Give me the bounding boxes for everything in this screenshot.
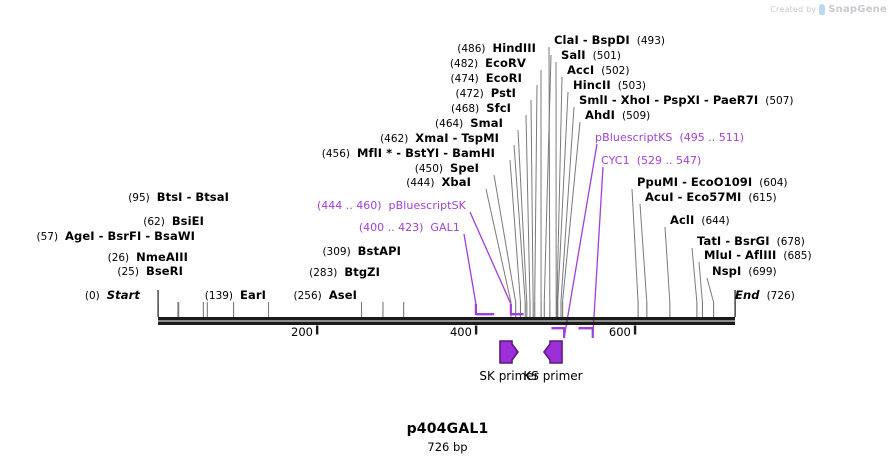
enzyme-label-clai[interactable]: ClaI - BspDI (493) xyxy=(554,35,665,47)
enzyme-name: PspXI xyxy=(663,93,700,107)
enzyme-position: (644) xyxy=(701,215,729,227)
name-separator: - xyxy=(732,248,745,262)
enzyme-name: XmaI xyxy=(415,131,448,145)
enzyme-label-asei[interactable]: (256) AseI xyxy=(0,290,357,302)
name-separator: - xyxy=(700,93,713,107)
enzyme-name-group: PpuMI - EcoO109I xyxy=(637,176,752,189)
enzyme-name: XhoI xyxy=(621,93,651,107)
enzyme-name: BstYI xyxy=(405,146,439,160)
enzyme-label-nspi[interactable]: NspI (699) xyxy=(712,266,777,278)
leader-sfci xyxy=(526,115,530,302)
site-tick-asei xyxy=(361,302,362,317)
enzyme-label-tati[interactable]: TatI - BsrGI (678) xyxy=(697,236,805,248)
enzyme-name: PaeR7I xyxy=(713,93,758,107)
name-separator: - xyxy=(449,131,462,145)
enzyme-position: (507) xyxy=(765,95,793,107)
enzyme-name: TspMI xyxy=(461,131,499,145)
plasmid-name: p404GAL1 xyxy=(0,421,895,437)
enzyme-position: (256) xyxy=(294,290,322,302)
feature-riser-pbluescriptsk xyxy=(510,304,512,315)
enzyme-label-btgzi[interactable]: (283) BtgZI xyxy=(0,267,380,279)
enzyme-position: (283) xyxy=(309,267,337,279)
enzyme-position: (501) xyxy=(593,50,621,62)
enzyme-name: BspDI xyxy=(592,33,630,47)
enzyme-label-ahdi[interactable]: AhdI (509) xyxy=(585,110,650,122)
enzyme-label-acli[interactable]: AclI (644) xyxy=(670,215,730,227)
leader-psti xyxy=(531,100,533,302)
enzyme-label-xbai[interactable]: (444) XbaI xyxy=(0,177,471,189)
plasmid-title-block: p404GAL1 726 bp xyxy=(0,421,895,454)
enzyme-position: (678) xyxy=(777,236,805,248)
ruler-label-600: 600 xyxy=(573,325,631,339)
site-tick-nmeaiii xyxy=(178,302,179,317)
map-backbone-group xyxy=(158,317,735,325)
enzyme-name-group: HindIII xyxy=(492,42,536,55)
feature-leader-cyc1 xyxy=(593,167,603,338)
enzyme-name: SfcI xyxy=(486,101,511,115)
leader-ecori xyxy=(535,85,537,302)
enzyme-name-group: SalI xyxy=(561,49,586,62)
ruler-tick xyxy=(316,326,318,335)
enzyme-position: (726) xyxy=(767,290,795,302)
name-separator: - xyxy=(439,146,452,160)
site-tick-ecorv xyxy=(541,302,542,317)
site-tick-smli xyxy=(560,302,561,317)
ruler-label-200: 200 xyxy=(255,325,313,339)
leader-mlui xyxy=(699,262,702,302)
site-tick-smai xyxy=(526,302,527,317)
enzyme-name-group: XmaI - TspMI xyxy=(415,132,499,145)
enzyme-position: (450) xyxy=(415,163,443,175)
enzyme-label-ecorv[interactable]: (482) EcoRV xyxy=(0,58,526,70)
enzyme-name-group: SmaI xyxy=(470,117,503,130)
enzyme-name: AflIII xyxy=(745,248,776,262)
feature-name: pBluescriptKS xyxy=(595,131,672,144)
enzyme-position: (615) xyxy=(748,192,776,204)
enzyme-name: BamHI xyxy=(452,146,495,160)
leader-tati xyxy=(692,248,697,302)
enzyme-name: EcoRV xyxy=(485,56,526,70)
site-tick-btgzi xyxy=(382,302,383,317)
enzyme-name: EcoO109I xyxy=(691,175,752,189)
enzyme-label-psti[interactable]: (472) PstI xyxy=(0,88,516,100)
ruler-tick xyxy=(634,326,636,335)
enzyme-name-group: AclI xyxy=(670,214,694,227)
name-separator: - xyxy=(392,146,405,160)
enzyme-position: (503) xyxy=(618,80,646,92)
enzyme-label-hincii[interactable]: HincII (503) xyxy=(573,80,646,92)
enzyme-name: XbaI xyxy=(441,175,471,189)
enzyme-name: BstAPI xyxy=(358,244,401,258)
enzyme-name: PstI xyxy=(491,86,516,100)
enzyme-name: TatI xyxy=(697,234,721,248)
primer-arrow-group xyxy=(500,341,562,363)
leader-ppumi xyxy=(632,189,638,302)
enzyme-name: HindIII xyxy=(492,41,536,55)
enzyme-label-smli[interactable]: SmlI - XhoI - PspXI - PaeR7I (507) xyxy=(579,95,793,107)
site-tick-ahdi xyxy=(562,302,563,317)
enzyme-name: HincII xyxy=(573,78,611,92)
enzyme-name-group: SmlI - XhoI - PspXI - PaeR7I xyxy=(579,94,758,107)
feature-label-pbluescriptsk[interactable]: (444 .. 460) pBluescriptSK xyxy=(0,200,466,211)
enzyme-label-acci[interactable]: AccI (502) xyxy=(567,65,629,77)
feature-label-gal1[interactable]: (400 .. 423) GAL1 xyxy=(0,222,460,233)
site-tick-hindiii xyxy=(544,302,545,317)
enzyme-position: (462) xyxy=(380,133,408,145)
enzyme-name: NspI xyxy=(712,264,741,278)
enzyme-name-group: BtgZI xyxy=(344,266,380,279)
site-tick-sfci xyxy=(529,302,530,317)
plasmid-length: 726 bp xyxy=(0,440,895,454)
feature-riser-gal1 xyxy=(475,304,477,315)
feature-name: CYC1 xyxy=(601,154,630,167)
enzyme-label-ecori[interactable]: (474) EcoRI xyxy=(0,73,522,85)
site-tick-bstapi xyxy=(403,302,404,317)
enzyme-position: (502) xyxy=(601,65,629,77)
enzyme-name: PpuMI xyxy=(637,175,678,189)
feature-range: (400 .. 423) xyxy=(359,221,424,234)
enzyme-position: (699) xyxy=(748,266,776,278)
enzyme-position: (468) xyxy=(451,103,479,115)
enzyme-name: BtgZI xyxy=(344,265,380,279)
ruler-label-400: 400 xyxy=(414,325,472,339)
enzyme-position: (456) xyxy=(322,148,350,160)
enzyme-name: SmaI xyxy=(470,116,503,130)
feature-name: GAL1 xyxy=(430,221,460,234)
enzyme-position: (474) xyxy=(451,73,479,85)
site-tick-bsiei xyxy=(207,302,208,317)
site-tick-psti xyxy=(533,302,534,317)
site-tick-ecori xyxy=(534,302,535,317)
site-tick-clai xyxy=(549,302,550,317)
enzyme-name: End xyxy=(735,288,760,302)
name-separator: - xyxy=(678,175,691,189)
site-tick-acui xyxy=(646,302,647,317)
enzyme-name-group: AcuI - Eco57MI xyxy=(645,191,741,204)
site-tick-xmai xyxy=(525,302,526,317)
enzyme-name: EcoRI xyxy=(486,71,522,85)
feature-leader-pbluescriptks xyxy=(564,144,597,338)
feature-range: (495 .. 511) xyxy=(679,131,744,144)
feature-leader-gal1 xyxy=(464,234,476,304)
map-backbone-upper xyxy=(158,317,735,321)
enzyme-position: (309) xyxy=(322,246,350,258)
enzyme-name-group: End xyxy=(735,289,760,302)
enzyme-name: MluI xyxy=(704,248,732,262)
enzyme-label-end[interactable]: End (726) xyxy=(735,290,795,302)
feature-bar-pbluescriptsk xyxy=(511,313,524,315)
enzyme-label-mlui[interactable]: MluI - AflIII (685) xyxy=(704,250,812,262)
primer-arrow-sk-primer xyxy=(500,341,518,363)
enzyme-label-bstapi[interactable]: (309) BstAPI xyxy=(0,246,401,258)
name-separator: - xyxy=(674,190,687,204)
feature-range: (444 .. 460) xyxy=(317,199,382,212)
enzyme-name-group: AseI xyxy=(329,289,357,302)
enzyme-name-group: NspI xyxy=(712,265,741,278)
enzyme-name: SalI xyxy=(561,48,586,62)
leader-xbai xyxy=(486,189,511,302)
enzyme-position: (464) xyxy=(435,118,463,130)
enzyme-position: (685) xyxy=(783,250,811,262)
enzyme-position: (482) xyxy=(450,58,478,70)
enzyme-name-group: AhdI xyxy=(585,109,615,122)
sequence-map-canvas: Created by SnapGene (0) Start(25) BseRI(… xyxy=(0,0,895,460)
feature-label-cyc1[interactable]: CYC1 (529 .. 547) xyxy=(601,155,701,166)
name-separator: - xyxy=(608,93,621,107)
enzyme-label-smai[interactable]: (464) SmaI xyxy=(0,118,503,130)
enzyme-name-group: EcoRI xyxy=(486,72,522,85)
enzyme-name: AseI xyxy=(329,288,357,302)
enzyme-name: AclI xyxy=(670,213,694,227)
enzyme-name: SpeI xyxy=(450,161,479,175)
leader-nspi xyxy=(707,278,714,302)
site-tick-tati xyxy=(696,302,697,317)
primer-caption-ks-primer[interactable]: KS primer xyxy=(493,369,613,383)
enzyme-label-sfci[interactable]: (468) SfcI xyxy=(0,103,511,115)
name-separator: - xyxy=(650,93,663,107)
enzyme-name: SmlI xyxy=(579,93,608,107)
enzyme-label-sali[interactable]: SalI (501) xyxy=(561,50,621,62)
feature-range: (529 .. 547) xyxy=(637,154,702,167)
enzyme-name: AccI xyxy=(567,63,594,77)
enzyme-name-group: SfcI xyxy=(486,102,511,115)
feature-bar-pbluescriptks xyxy=(551,327,564,329)
enzyme-label-ppumi[interactable]: PpuMI - EcoO109I (604) xyxy=(637,177,788,189)
feature-label-pbluescriptks[interactable]: pBluescriptKS (495 .. 511) xyxy=(595,132,744,143)
enzyme-name: Eco57MI xyxy=(686,190,741,204)
ruler-tick xyxy=(475,326,477,335)
enzyme-position: (472) xyxy=(456,88,484,100)
enzyme-name-group: HincII xyxy=(573,79,611,92)
site-tick-agei xyxy=(203,302,204,317)
site-tick-mlui xyxy=(702,302,703,317)
feature-bar-gal1 xyxy=(476,313,494,315)
site-tick-ppumi xyxy=(638,302,639,317)
enzyme-name: AcuI xyxy=(645,190,674,204)
feature-riser-pbluescriptks xyxy=(563,327,565,338)
enzyme-position: (486) xyxy=(457,43,485,55)
enzyme-name: MflI * xyxy=(357,146,392,160)
enzyme-name-group: XbaI xyxy=(441,176,471,189)
enzyme-name-group: BstAPI xyxy=(358,245,401,258)
enzyme-name-group: MflI * - BstYI - BamHI xyxy=(357,147,495,160)
feature-leader-pbluescriptsk xyxy=(470,212,511,304)
feature-name: pBluescriptSK xyxy=(389,199,466,212)
enzyme-name-group: EcoRV xyxy=(485,57,526,70)
enzyme-label-mfli[interactable]: (456) MflI * - BstYI - BamHI xyxy=(0,148,495,160)
enzyme-position: (604) xyxy=(759,177,787,189)
enzyme-name: AhdI xyxy=(585,108,615,122)
enzyme-label-spei[interactable]: (450) SpeI xyxy=(0,163,479,175)
enzyme-name-group: AccI xyxy=(567,64,594,77)
leader-acli xyxy=(665,227,670,302)
enzyme-name-group: TatI - BsrGI xyxy=(697,235,770,248)
enzyme-position: (509) xyxy=(622,110,650,122)
enzyme-name-group: SpeI xyxy=(450,162,479,175)
name-separator: - xyxy=(721,234,734,248)
site-tick-btsi xyxy=(233,302,234,317)
enzyme-position: (493) xyxy=(637,35,665,47)
primer-arrow-ks-primer xyxy=(544,341,562,363)
enzyme-name: BsrGI xyxy=(734,234,770,248)
enzyme-label-hindiii[interactable]: (486) HindIII xyxy=(0,43,536,55)
site-tick-nspi xyxy=(713,302,714,317)
enzyme-name-group: PstI xyxy=(491,87,516,100)
enzyme-label-xmai[interactable]: (462) XmaI - TspMI xyxy=(0,133,499,145)
name-separator: - xyxy=(579,33,592,47)
enzyme-name-group: ClaI - BspDI xyxy=(554,34,630,47)
site-tick-acli xyxy=(669,302,670,317)
enzyme-position: (444) xyxy=(406,177,434,189)
enzyme-name: ClaI xyxy=(554,33,579,47)
site-tick-eari xyxy=(268,302,269,317)
enzyme-label-acui[interactable]: AcuI - Eco57MI (615) xyxy=(645,192,777,204)
site-tick-hincii xyxy=(557,302,558,317)
leader-acui xyxy=(640,204,647,302)
enzyme-name-group: MluI - AflIII xyxy=(704,249,776,262)
